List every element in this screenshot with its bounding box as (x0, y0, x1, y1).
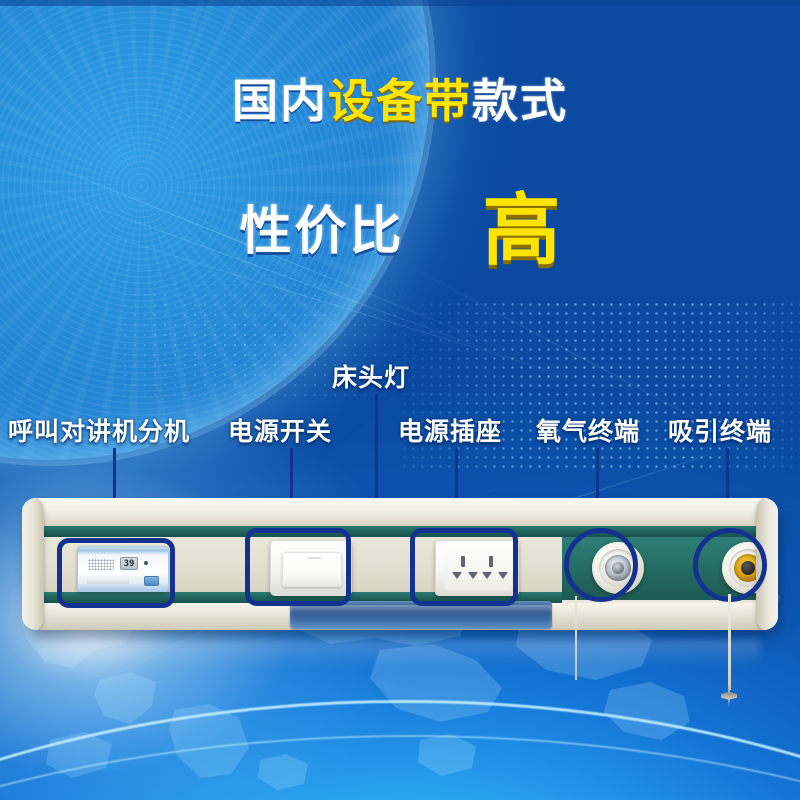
panel-stripe-upper (22, 526, 778, 537)
callout-label-oxygen-outlet: 氧气终端 (536, 412, 640, 448)
highlight-circle-oxygen (564, 528, 638, 602)
highlight-box-intercom (57, 538, 175, 608)
highlight-box-power-switch (245, 528, 351, 606)
headline-value-text: 性价比 (239, 203, 404, 261)
highlight-box-power-socket (410, 528, 518, 606)
callout-label-power-switch: 电源开关 (228, 412, 332, 448)
headline-line-1: 国内设备带款式 (232, 78, 568, 124)
headline-line-2: 性价比高 (0, 160, 800, 272)
headline-emphasis-char: 高 (483, 186, 561, 274)
callout-label-intercom: 呼叫对讲机分机 (8, 412, 190, 448)
callout-label-bed-lamp: 床头灯 (332, 358, 410, 394)
callout-label-power-socket: 电源插座 (398, 412, 502, 448)
product-banner: 国内设备带款式 性价比高 呼叫对讲机分机 电源开关 床头灯 电源插座 氧气终端 … (0, 0, 800, 800)
headline-part-3: 款式 (472, 75, 568, 127)
headline-part-2: 设备带 (328, 75, 472, 127)
lamp-highlight (290, 605, 552, 614)
headline-part-1: 国内 (232, 75, 328, 127)
highlight-circle-suction (693, 528, 767, 602)
callout-label-suction-outlet: 吸引终端 (668, 412, 772, 448)
panel-reflection (40, 640, 760, 666)
top-edge-band (0, 0, 800, 6)
panel-end-cap-left (22, 498, 44, 630)
panel-top-rail (22, 498, 778, 526)
headline-block: 国内设备带款式 (0, 78, 800, 124)
oxygen-cord (575, 596, 577, 680)
